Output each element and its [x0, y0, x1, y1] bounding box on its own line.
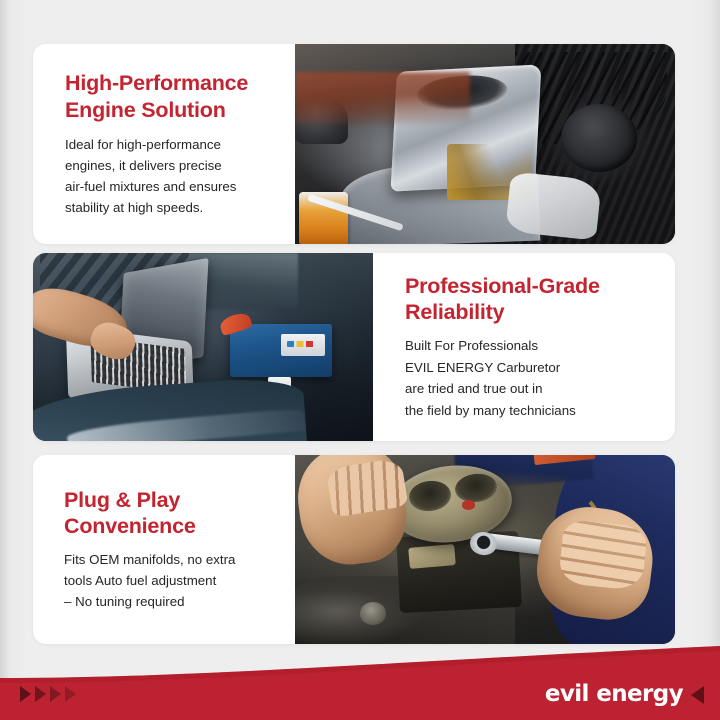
brand-wordmark: evil energy: [545, 683, 683, 706]
card-3-title-line-1: Plug & Play: [64, 488, 180, 512]
carburetor-rebuild-photo: [295, 455, 675, 644]
card-1-body-line-4: stability at high speeds.: [65, 200, 203, 215]
card-1-body-line-3: air-fuel mixtures and ensures: [65, 179, 236, 194]
triangle-right-icon: [50, 686, 61, 702]
footer-arrow-group: [20, 686, 76, 702]
card-1-title-line-2: Engine Solution: [65, 98, 226, 122]
card-2-body-line-1: Built For Professionals: [405, 338, 538, 353]
card-3-title: Plug & Play Convenience: [64, 487, 281, 540]
card-1-body: Ideal for high-performance engines, it d…: [65, 134, 281, 218]
footer-curve-shape: [0, 640, 720, 720]
card-1-image: [295, 44, 675, 244]
card-2-title-line-2: Reliability: [405, 300, 504, 324]
engine-canister: [295, 96, 348, 144]
card-3-title-line-2: Convenience: [64, 514, 196, 538]
card-2-layout: Professional-Grade Reliability Built For…: [33, 253, 675, 441]
card-3-image: [295, 455, 675, 644]
card-2-text-column: Professional-Grade Reliability Built For…: [373, 253, 675, 441]
laptop-diagnostics-photo: [33, 253, 373, 441]
card-2-title-line-1: Professional-Grade: [405, 274, 600, 298]
right-hand-fingers: [558, 519, 648, 592]
white-shop-rag: [505, 171, 602, 240]
footer-banner: evil energy: [0, 640, 720, 720]
distributor-cap: [561, 104, 637, 172]
card-3-body-line-2: tools Auto fuel adjustment: [64, 573, 216, 588]
card-1-text-column: High-Performance Engine Solution Ideal f…: [33, 44, 295, 244]
card-1-layout: High-Performance Engine Solution Ideal f…: [33, 44, 675, 244]
charger-control-panel: [281, 334, 325, 357]
card-2-image: [33, 253, 373, 441]
triangle-right-icon: [65, 686, 76, 702]
infographic-page: High-Performance Engine Solution Ideal f…: [0, 0, 720, 720]
card-2-body-line-4: the field by many technicians: [405, 403, 576, 418]
card-1-title-line-1: High-Performance: [65, 71, 248, 95]
card-2-body-line-3: are tried and true out in: [405, 381, 543, 396]
brand-logo: evil energy: [545, 683, 704, 706]
card-2-body-line-2: EVIL ENERGY Carburetor: [405, 360, 560, 375]
card-3-body: Fits OEM manifolds, no extra tools Auto …: [64, 549, 281, 612]
card-3-text-column: Plug & Play Convenience Fits OEM manifol…: [33, 455, 295, 644]
card-3-body-line-1: Fits OEM manifolds, no extra: [64, 552, 235, 567]
feature-card-2: Professional-Grade Reliability Built For…: [33, 253, 675, 441]
card-1-body-line-1: Ideal for high-performance: [65, 137, 221, 152]
carburetor-bracket: [408, 544, 455, 569]
card-3-layout: Plug & Play Convenience Fits OEM manifol…: [33, 455, 675, 644]
engine-bolt: [360, 602, 387, 625]
feature-card-3: Plug & Play Convenience Fits OEM manifol…: [33, 455, 675, 644]
feature-card-1: High-Performance Engine Solution Ideal f…: [33, 44, 675, 244]
card-2-body: Built For Professionals EVIL ENERGY Carb…: [405, 335, 653, 421]
card-3-body-line-3: – No tuning required: [64, 594, 185, 609]
carburetor-engine-photo: [295, 44, 675, 244]
card-2-title: Professional-Grade Reliability: [405, 273, 653, 326]
triangle-right-icon: [35, 686, 46, 702]
card-1-title: High-Performance Engine Solution: [65, 70, 281, 123]
card-1-body-line-2: engines, it delivers precise: [65, 158, 222, 173]
triangle-right-icon: [20, 686, 31, 702]
triangle-left-icon: [691, 686, 704, 704]
